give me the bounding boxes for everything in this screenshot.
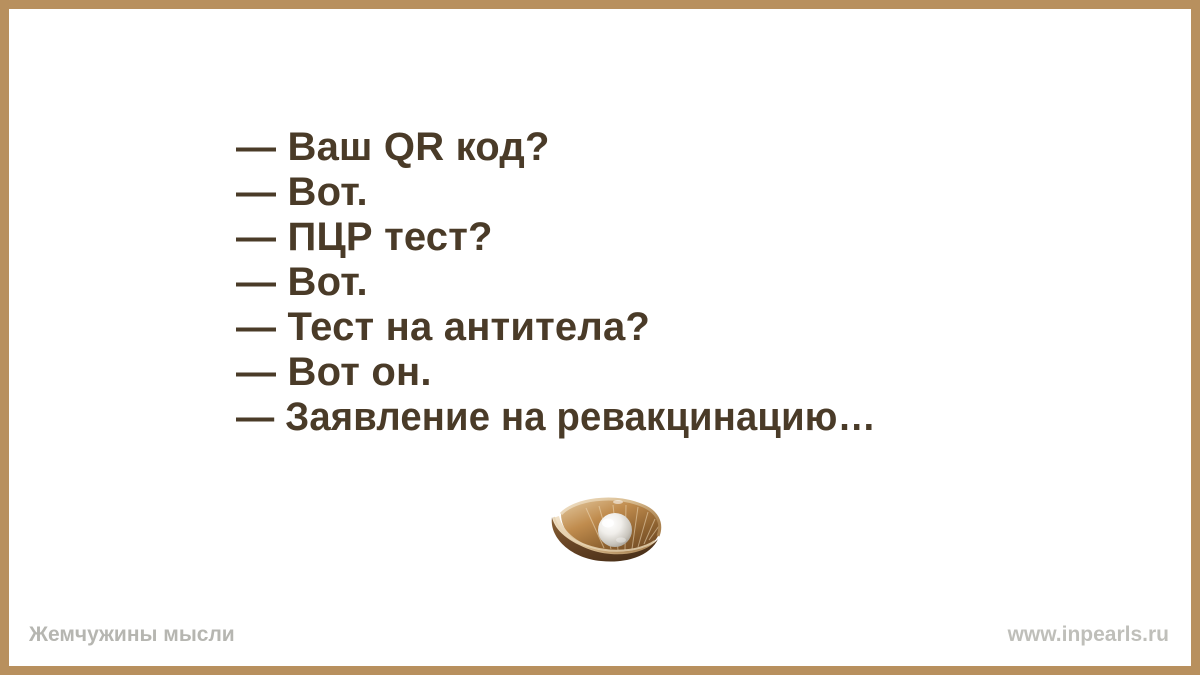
- quote-line: — Вот.: [236, 260, 1176, 305]
- quote-card: — Ваш QR код? — Вот. — ПЦР тест? — Вот. …: [0, 0, 1200, 675]
- quote-line: — ПЦР тест?: [236, 215, 1176, 260]
- quote-block: — Ваш QR код? — Вот. — ПЦР тест? — Вот. …: [236, 125, 1176, 440]
- site-name: Жемчужины мысли: [29, 620, 235, 650]
- footer: Жемчужины мысли www.inpearls.ru: [9, 620, 1191, 654]
- oyster-shell-with-pearl-icon: [545, 492, 667, 564]
- quote-line: — Тест на антитела?: [236, 305, 1176, 350]
- quote-line: — Вот он.: [236, 350, 1176, 395]
- site-url[interactable]: www.inpearls.ru: [1008, 620, 1169, 650]
- quote-line: — Заявление на ревакцинацию…: [236, 395, 1134, 440]
- quote-line: — Вот.: [236, 170, 1176, 215]
- quote-line: — Ваш QR код?: [236, 125, 1176, 170]
